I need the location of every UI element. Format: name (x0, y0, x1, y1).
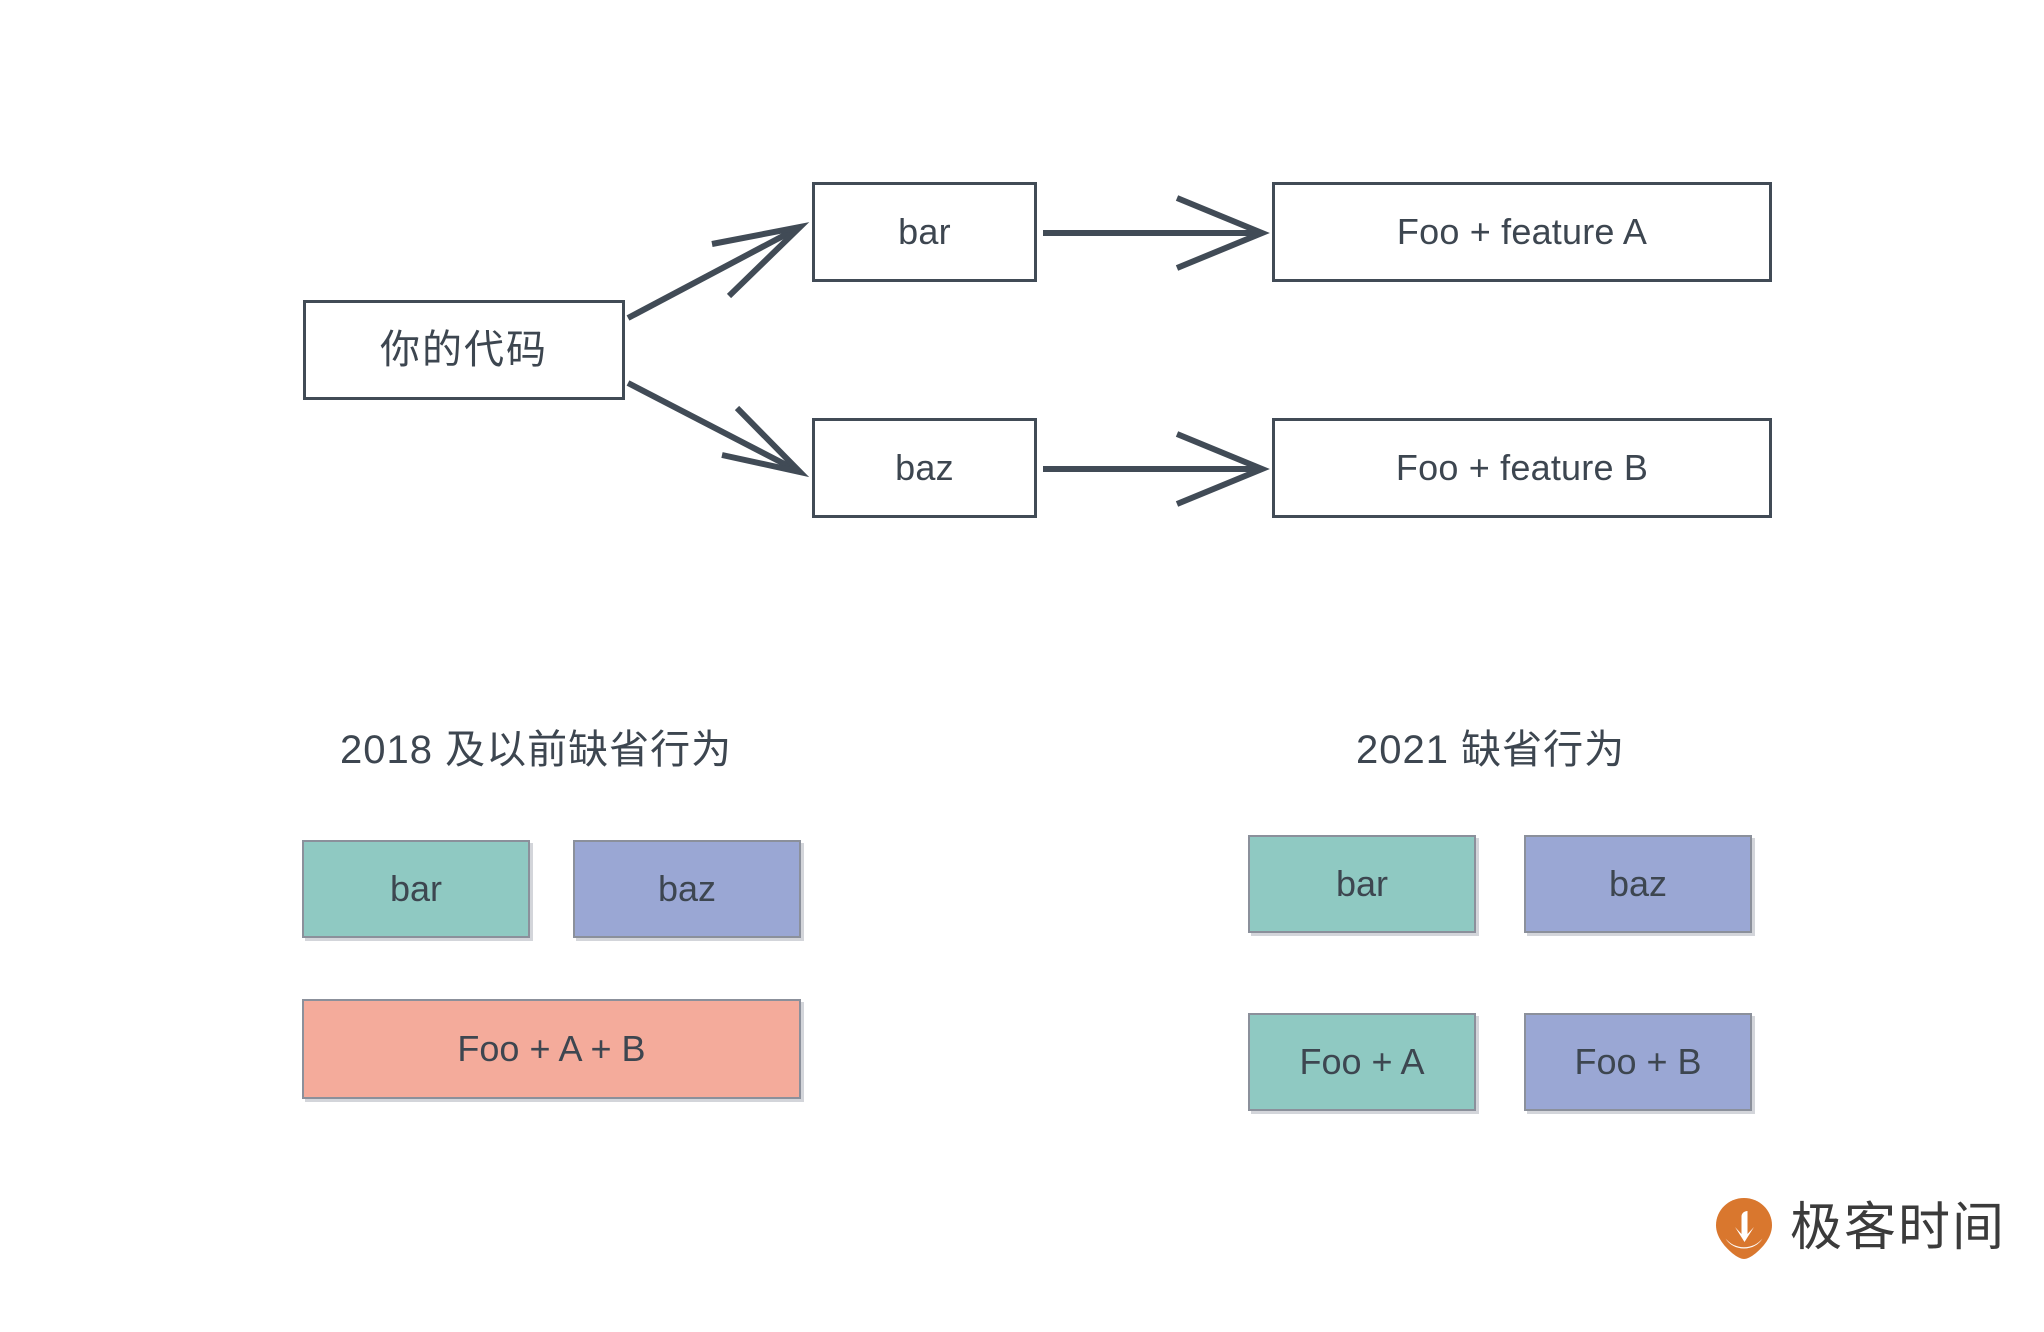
flow-source-box: 你的代码 (303, 300, 625, 400)
arrow-source-to-bar-icon (628, 227, 800, 318)
arrow-bar-to-feature-a-icon (1043, 198, 1262, 268)
heading-2018-default-behavior: 2018 及以前缺省行为 (340, 730, 732, 770)
flow-result-box-feature-b: Foo + feature B (1272, 418, 1772, 518)
geektime-pin-icon (1712, 1196, 1776, 1260)
right-input-block-bar: bar (1248, 835, 1476, 933)
left-input-block-baz: baz (573, 840, 801, 938)
arrow-baz-to-feature-b-icon (1043, 434, 1262, 504)
left-output-block-foo-a-b: Foo + A + B (302, 999, 801, 1099)
heading-2021-default-behavior: 2021 缺省行为 (1356, 730, 1625, 770)
watermark-text: 极客时间 (1790, 1202, 2006, 1254)
flow-branch-box-bar: bar (812, 182, 1037, 282)
right-output-block-foo-a: Foo + A (1248, 1013, 1476, 1111)
arrow-source-to-baz-icon (628, 383, 800, 472)
watermark-logo: 极客时间 (1712, 1196, 2006, 1260)
flow-branch-box-baz: baz (812, 418, 1037, 518)
right-input-block-baz: baz (1524, 835, 1752, 933)
left-input-block-bar: bar (302, 840, 530, 938)
flow-result-box-feature-a: Foo + feature A (1272, 182, 1772, 282)
diagram-canvas: 你的代码 bar Foo + feature A baz Foo + featu… (0, 0, 2044, 1332)
right-output-block-foo-b: Foo + B (1524, 1013, 1752, 1111)
